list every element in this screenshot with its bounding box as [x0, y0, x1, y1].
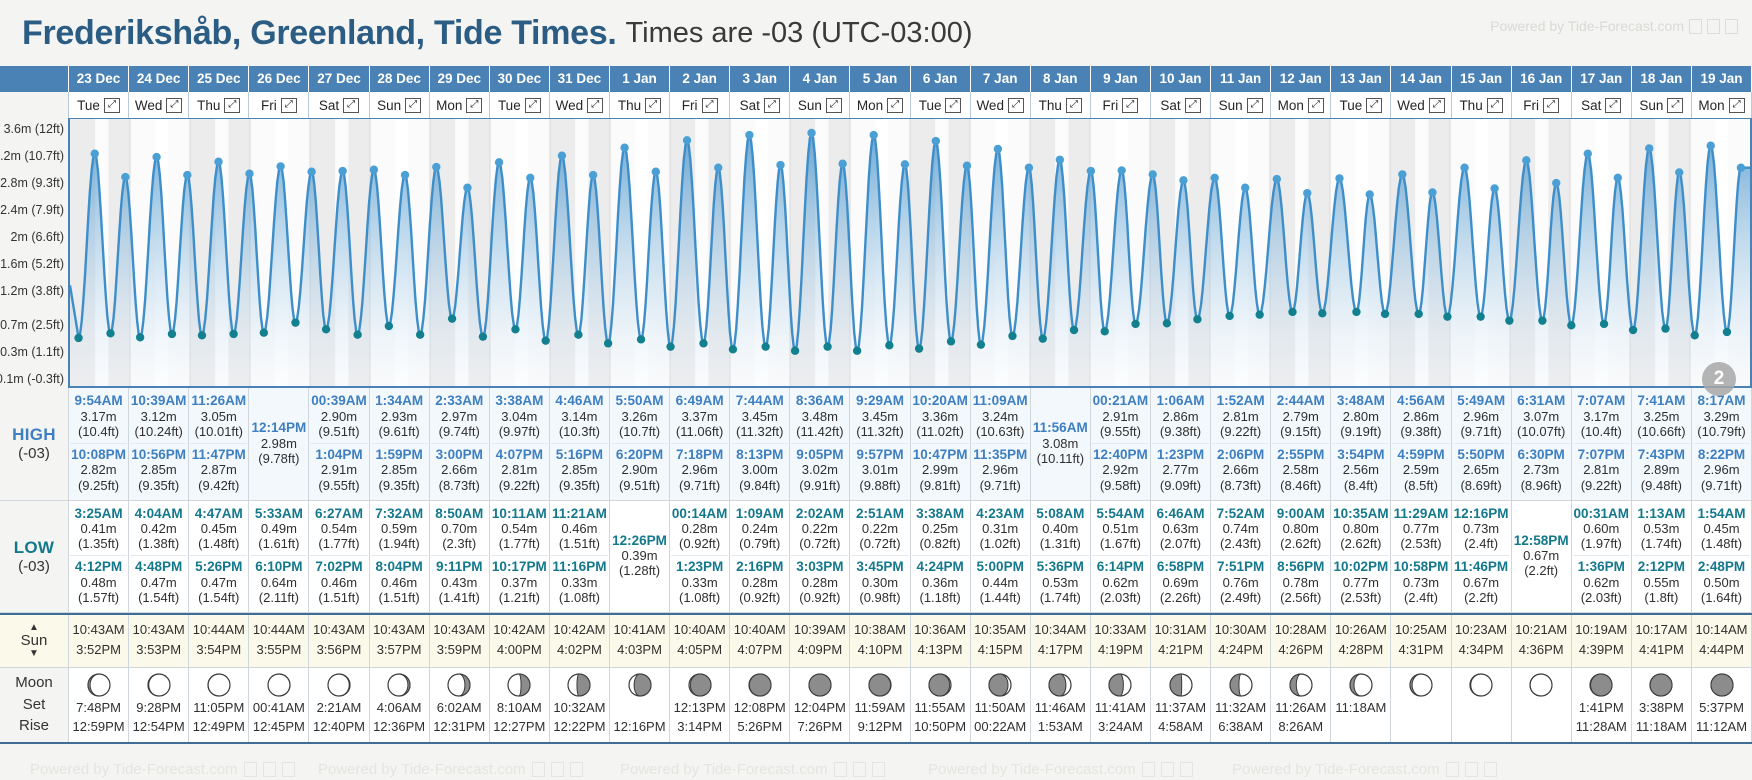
low-tide-time: 5:54AM	[1092, 506, 1149, 522]
expand-day-icon[interactable]: ⤢	[405, 98, 421, 113]
moon-phase-icon	[790, 672, 849, 698]
high-tide-feet: (9.22ft)	[491, 478, 548, 493]
expand-day-icon[interactable]: ⤢	[1729, 98, 1745, 113]
high-tide-feet: (9.48ft)	[1633, 478, 1690, 493]
footer-watermark-icon-1	[1142, 762, 1155, 777]
moonrise-time	[1512, 717, 1571, 737]
low-tide-feet: (1.21ft)	[491, 590, 548, 605]
low-tide-event: 11:29AM0.77m(2.53ft)	[1392, 505, 1449, 554]
high-tide-event: 6:30PM2.73m(8.96ft)	[1513, 443, 1570, 495]
low-tide-time: 6:14PM	[1092, 559, 1149, 575]
expand-day-icon[interactable]: ⤢	[645, 98, 661, 113]
high-tide-event: 9:54AM3.17m(10.4ft)	[70, 392, 127, 441]
high-tide-feet: (9.81ft)	[912, 478, 969, 493]
expand-day-icon[interactable]: ⤢	[1066, 98, 1082, 113]
high-tide-cell: 5:49AM2.96m(9.71ft)5:50PM2.65m(8.69ft)	[1452, 388, 1512, 500]
low-tide-event: 1:23PM0.33m(1.08ft)	[671, 555, 728, 607]
sunset-time: 4:39PM	[1572, 640, 1631, 660]
high-tide-feet: (9.84ft)	[731, 478, 788, 493]
expand-day-icon[interactable]: ⤢	[1185, 98, 1201, 113]
high-tide-metres: 2.93m	[371, 409, 428, 424]
high-tide-metres: 3.37m	[671, 409, 728, 424]
low-tide-cell: 5:08AM0.40m(1.31ft)5:36PM0.53m(1.74ft)	[1031, 501, 1091, 613]
high-tide-metres: 3.01m	[851, 462, 908, 477]
expand-day-icon[interactable]: ⤢	[525, 98, 541, 113]
low-tide-event: 7:32AM0.59m(1.94ft)	[371, 505, 428, 554]
low-tide-cell: 12:58PM0.67m(2.2ft)	[1512, 501, 1572, 613]
high-tide-feet: (8.73ft)	[1212, 478, 1269, 493]
date-header-cell[interactable]: 9 Jan	[1091, 66, 1151, 92]
high-tide-metres: 2.85m	[371, 462, 428, 477]
low-tide-event: 7:51PM0.76m(2.49ft)	[1212, 555, 1269, 607]
low-tide-metres: 0.24m	[731, 521, 788, 536]
date-header-cell[interactable]: 4 Jan	[790, 66, 850, 92]
high-tide-time: 4:59PM	[1392, 447, 1449, 463]
expand-day-icon[interactable]: ⤢	[1308, 98, 1324, 113]
weekday-header-cell: Fri⤢	[249, 92, 309, 118]
high-tide-time: 11:47PM	[190, 447, 247, 463]
high-tide-feet: (9.71ft)	[972, 478, 1029, 493]
moon-phase-icon	[1512, 672, 1571, 698]
high-tide-cell: 8:36AM3.48m(11.42ft)9:05PM3.02m(9.91ft)	[790, 388, 850, 500]
low-tide-event: 12:16PM0.73m(2.4ft)	[1453, 505, 1510, 554]
moon-cell: 12:13PM3:14PM	[670, 668, 730, 742]
low-tide-time: 11:16PM	[551, 559, 608, 575]
expand-day-icon[interactable]: ⤢	[945, 98, 961, 113]
low-tide-time: 6:10PM	[250, 559, 307, 575]
high-tide-metres: 3.24m	[972, 409, 1029, 424]
high-tide-event: 9:57PM3.01m(9.88ft)	[851, 443, 908, 495]
high-tide-time: 10:39AM	[130, 393, 187, 409]
expand-day-icon[interactable]: ⤢	[1605, 98, 1621, 113]
moon-times: 11:18AM	[1331, 698, 1390, 737]
high-tide-metres: 2.81m	[1212, 409, 1269, 424]
low-tide-metres: 0.76m	[1212, 575, 1269, 590]
expand-day-icon[interactable]: ⤢	[587, 98, 603, 113]
low-tide-cell: 10:35AM0.80m(2.62ft)10:02PM0.77m(2.53ft)	[1331, 501, 1391, 613]
moonset-time: 11:41AM	[1091, 698, 1150, 718]
tide-chart[interactable]	[68, 118, 1752, 388]
sunrise-time: 10:19AM	[1572, 620, 1631, 640]
low-tide-metres: 0.47m	[190, 575, 247, 590]
date-header-cell[interactable]: 28 Dec	[370, 66, 430, 92]
date-header-cell[interactable]: 15 Jan	[1452, 66, 1512, 92]
sunset-time: 3:57PM	[370, 640, 429, 660]
weekday-label: Sat	[1581, 98, 1601, 113]
moon-cell: 11:46AM1:53AM	[1031, 668, 1091, 742]
footer-watermark-icon-1	[834, 762, 847, 777]
weekday-header-cell: Tue⤢	[911, 92, 971, 118]
weekday-label: Wed	[976, 98, 1004, 113]
moon-phase-icon	[1391, 672, 1450, 698]
low-tide-feet: (2.49ft)	[1212, 590, 1269, 605]
high-tide-event: 2:55PM2.58m(8.46ft)	[1272, 443, 1329, 495]
moon-times: 11:37AM4:58AM	[1151, 698, 1210, 737]
sunrise-time: 10:42AM	[490, 620, 549, 640]
high-tide-time: 3:48AM	[1332, 393, 1389, 409]
low-tide-metres: 0.43m	[431, 575, 488, 590]
moon-phase-icon	[430, 672, 489, 698]
low-tide-event: 6:27AM0.54m(1.77ft)	[310, 505, 367, 554]
low-tide-event: 3:38AM0.25m(0.82ft)	[912, 505, 969, 554]
low-tide-feet: (1.67ft)	[1092, 536, 1149, 551]
date-header-cell[interactable]: 29 Dec	[430, 66, 490, 92]
low-tide-event: 11:21AM0.46m(1.51ft)	[551, 505, 608, 554]
date-header-cell[interactable]: 16 Jan	[1512, 66, 1572, 92]
high-tide-metres: 3.45m	[731, 409, 788, 424]
high-tide-feet: (11.02ft)	[912, 424, 969, 439]
moon-times: 00:41AM12:45PM	[249, 698, 308, 737]
expand-day-icon[interactable]: ⤢	[466, 98, 482, 113]
sunset-time: 4:44PM	[1692, 640, 1751, 660]
date-header-cell[interactable]: 7 Jan	[971, 66, 1031, 92]
high-tide-cell: 6:49AM3.37m(11.06ft)7:18PM2.96m(9.71ft)	[670, 388, 730, 500]
high-tide-label: HIGH (-03)	[0, 388, 68, 500]
high-tide-cell: 12:14PM2.98m(9.78ft)	[249, 388, 309, 500]
sunrise-time: 10:43AM	[129, 620, 188, 640]
high-tide-metres: 2.85m	[130, 462, 187, 477]
weekday-header-cell: Thu⤢	[189, 92, 249, 118]
date-header-cell[interactable]: 12 Jan	[1271, 66, 1331, 92]
high-tide-metres: 3.14m	[551, 409, 608, 424]
date-header-cell[interactable]: 14 Jan	[1391, 66, 1451, 92]
high-tide-metres: 2.90m	[611, 462, 668, 477]
date-header-cell[interactable]: 31 Dec	[550, 66, 610, 92]
low-tide-metres: 0.41m	[70, 521, 127, 536]
footer-watermark-text: Powered by Tide-Forecast.com	[1232, 761, 1440, 778]
low-tide-metres: 0.78m	[1272, 575, 1329, 590]
moonrise-time: 10:50PM	[911, 717, 970, 737]
sun-cell: 10:21AM4:36PM	[1512, 615, 1572, 666]
sunrise-time: 10:26AM	[1331, 620, 1390, 640]
sun-row: ▲ Sun ▼ 10:43AM3:52PM10:43AM3:53PM10:44A…	[0, 613, 1752, 666]
weekday-label: Sat	[319, 98, 339, 113]
date-header-cell[interactable]: 2 Jan	[670, 66, 730, 92]
high-tide-metres: 2.86m	[1152, 409, 1209, 424]
moon-times: 11:50AM00:22AM	[971, 698, 1030, 737]
low-tide-event: 5:00PM0.44m(1.44ft)	[972, 555, 1029, 607]
high-tide-feet: (10.4ft)	[1573, 424, 1630, 439]
low-tide-event: 3:03PM0.28m(0.92ft)	[791, 555, 848, 607]
high-tide-time: 10:47PM	[912, 447, 969, 463]
high-tide-time: 12:14PM	[250, 420, 307, 436]
low-tide-event: 2:51AM0.22m(0.72ft)	[851, 505, 908, 554]
high-tide-time: 10:20AM	[912, 393, 969, 409]
moon-phase-icon	[730, 672, 789, 698]
low-tide-event: 10:02PM0.77m(2.53ft)	[1332, 555, 1389, 607]
high-tide-feet: (8.5ft)	[1392, 478, 1449, 493]
date-header-cell[interactable]: 23 Dec	[68, 66, 129, 92]
moon-times: 11:26AM8:26AM	[1271, 698, 1330, 737]
moonrise-time	[1452, 717, 1511, 737]
high-tide-metres: 2.85m	[551, 462, 608, 477]
weekday-header-cell: Mon⤢	[1271, 92, 1331, 118]
expand-day-icon[interactable]: ⤢	[166, 98, 182, 113]
date-header-cell[interactable]: 19 Jan	[1692, 66, 1752, 92]
low-tide-time: 4:04AM	[130, 506, 187, 522]
low-tide-feet: (1.61ft)	[250, 536, 307, 551]
low-tide-event: 1:54AM0.45m(1.48ft)	[1693, 505, 1750, 554]
moon-phase-icon	[69, 672, 128, 698]
sunrise-time: 10:17AM	[1632, 620, 1691, 640]
weekday-header-cell: Tue⤢	[68, 92, 129, 118]
low-tide-feet: (0.92ft)	[731, 590, 788, 605]
moonset-time	[1512, 698, 1571, 718]
high-tide-feet: (9.09ft)	[1152, 478, 1209, 493]
high-tide-time: 3:54PM	[1332, 447, 1389, 463]
low-tide-event: 5:33AM0.49m(1.61ft)	[250, 505, 307, 554]
low-tide-time: 1:54AM	[1693, 506, 1750, 522]
low-tide-feet: (1.38ft)	[130, 536, 187, 551]
high-tide-event: 3:54PM2.56m(8.4ft)	[1332, 443, 1389, 495]
sun-cell: 10:31AM4:21PM	[1151, 615, 1211, 666]
low-tide-metres: 0.28m	[671, 521, 728, 536]
high-tide-cell: 11:26AM3.05m(10.01ft)11:47PM2.87m(9.42ft…	[189, 388, 249, 500]
high-tide-feet: (9.74ft)	[431, 424, 488, 439]
date-header-cell[interactable]: 26 Dec	[249, 66, 309, 92]
low-tide-metres: 0.77m	[1392, 521, 1449, 536]
weekday-header-cell: Thu⤢	[1031, 92, 1091, 118]
sunrise-time: 10:38AM	[850, 620, 909, 640]
high-tide-time: 6:31AM	[1513, 393, 1570, 409]
date-header-cell[interactable]: 1 Jan	[610, 66, 670, 92]
expand-day-icon[interactable]: ⤢	[1366, 98, 1382, 113]
high-tide-event: 10:20AM3.36m(11.02ft)	[912, 392, 969, 441]
expand-day-icon[interactable]: ⤢	[1429, 98, 1445, 113]
footer-watermark-icon-2	[1161, 762, 1174, 777]
moonset-time: 11:05PM	[189, 698, 248, 718]
moon-phase-icon	[550, 672, 609, 698]
high-tide-event: 12:40PM2.92m(9.58ft)	[1092, 443, 1149, 495]
expand-day-icon[interactable]: ⤢	[1247, 98, 1263, 113]
footer-watermark: Powered by Tide-Forecast.com	[1232, 761, 1497, 778]
moon-times: 4:06AM12:36PM	[370, 698, 429, 737]
low-tide-time: 4:47AM	[190, 506, 247, 522]
weekday-label: Wed	[556, 98, 584, 113]
footer-watermark-icon-1	[244, 762, 257, 777]
low-tide-feet: (0.98ft)	[851, 590, 908, 605]
low-tide-feet: (1.35ft)	[70, 536, 127, 551]
high-tide-time: 5:50AM	[611, 393, 668, 409]
low-tide-event: 4:47AM0.45m(1.48ft)	[190, 505, 247, 554]
moonrise-time: 3:14PM	[670, 717, 729, 737]
high-tide-feet: (10.01ft)	[190, 424, 247, 439]
moon-phase-icon	[670, 672, 729, 698]
low-tide-feet: (2.2ft)	[1513, 563, 1570, 578]
low-tide-time: 5:00PM	[972, 559, 1029, 575]
weekday-header-corner	[0, 92, 68, 118]
weekday-label: Sun	[798, 98, 822, 113]
moonset-time: 11:50AM	[971, 698, 1030, 718]
high-tide-time: 9:54AM	[70, 393, 127, 409]
sun-cell: 10:42AM4:02PM	[550, 615, 610, 666]
expand-day-icon[interactable]: ⤢	[1667, 98, 1683, 113]
moon-cell: 00:41AM12:45PM	[249, 668, 309, 742]
high-tide-event: 1:34AM2.93m(9.61ft)	[371, 392, 428, 441]
low-tide-metres: 0.50m	[1693, 575, 1750, 590]
date-header-cell[interactable]: 6 Jan	[911, 66, 971, 92]
expand-day-icon[interactable]: ⤢	[281, 98, 297, 113]
high-tide-cell: 5:50AM3.26m(10.7ft)6:20PM2.90m(9.51ft)	[610, 388, 670, 500]
weekday-label: Sat	[1160, 98, 1180, 113]
high-tide-feet: (10.3ft)	[551, 424, 608, 439]
low-tide-time: 11:21AM	[551, 506, 608, 522]
sun-cell: 10:14AM4:44PM	[1692, 615, 1752, 666]
date-header-cell[interactable]: 17 Jan	[1572, 66, 1632, 92]
sun-cell: 10:38AM4:10PM	[850, 615, 910, 666]
low-tide-cell: 2:02AM0.22m(0.72ft)3:03PM0.28m(0.92ft)	[790, 501, 850, 613]
weekday-label: Wed	[1397, 98, 1425, 113]
timezone-subtitle: Times are -03 (UTC-03:00)	[626, 17, 973, 50]
high-tide-event: 11:26AM3.05m(10.01ft)	[190, 392, 247, 441]
high-tide-time: 9:57PM	[851, 447, 908, 463]
high-tide-cell: 8:17AM3.29m(10.79ft)8:22PM2.96m(9.71ft)	[1692, 388, 1752, 500]
date-header-cell[interactable]: 30 Dec	[490, 66, 550, 92]
watermark-icon-1	[1689, 19, 1702, 34]
high-tide-event: 11:47PM2.87m(9.42ft)	[190, 443, 247, 495]
moon-cell: 2:21AM12:40PM	[309, 668, 369, 742]
expand-day-icon[interactable]: ⤢	[224, 98, 240, 113]
low-tide-metres: 0.62m	[1573, 575, 1630, 590]
low-tide-metres: 0.40m	[1032, 521, 1089, 536]
expand-day-icon[interactable]: ⤢	[764, 98, 780, 113]
footer-watermark-text: Powered by Tide-Forecast.com	[928, 761, 1136, 778]
low-tide-time: 5:26PM	[190, 559, 247, 575]
high-tide-time: 5:16PM	[551, 447, 608, 463]
high-tide-metres: 3.05m	[190, 409, 247, 424]
date-header-cell[interactable]: 18 Jan	[1632, 66, 1692, 92]
moonrise-time: 6:38AM	[1211, 717, 1270, 737]
expand-day-icon[interactable]: ⤢	[1543, 98, 1559, 113]
expand-day-icon[interactable]: ⤢	[1008, 98, 1024, 113]
low-tide-time: 2:16PM	[731, 559, 788, 575]
chart-y-tick-label: 0.7m (2.5ft)	[0, 318, 64, 332]
low-tide-time: 3:38AM	[912, 506, 969, 522]
moon-times: 10:32AM12:22PM	[550, 698, 609, 737]
high-tide-feet: (11.32ft)	[731, 424, 788, 439]
expand-day-icon[interactable]: ⤢	[1122, 98, 1138, 113]
weekday-label: Thu	[1039, 98, 1062, 113]
high-tide-metres: 2.66m	[1212, 462, 1269, 477]
sun-cell: 10:41AM4:03PM	[610, 615, 670, 666]
high-tide-event: 7:07PM2.81m(9.22ft)	[1573, 443, 1630, 495]
moonrise-time: 11:28AM	[1572, 717, 1631, 737]
low-tide-feet: (2.56ft)	[1272, 590, 1329, 605]
high-tide-event: 5:16PM2.85m(9.35ft)	[551, 443, 608, 495]
moonset-time: 00:41AM	[249, 698, 308, 718]
expand-day-icon[interactable]: ⤢	[104, 98, 120, 113]
date-header-cell[interactable]: 25 Dec	[189, 66, 249, 92]
date-header-cell[interactable]: 11 Jan	[1211, 66, 1271, 92]
weekday-header-row: Tue⤢Wed⤢Thu⤢Fri⤢Sat⤢Sun⤢Mon⤢Tue⤢Wed⤢Thu⤢…	[0, 92, 1752, 118]
low-tide-feet: (1.18ft)	[912, 590, 969, 605]
date-header-cell[interactable]: 3 Jan	[730, 66, 790, 92]
high-tide-event: 8:36AM3.48m(11.42ft)	[791, 392, 848, 441]
low-tide-cell: 4:23AM0.31m(1.02ft)5:00PM0.44m(1.44ft)	[971, 501, 1031, 613]
high-tide-feet: (9.25ft)	[70, 478, 127, 493]
high-tide-feet: (9.55ft)	[1092, 424, 1149, 439]
date-header-cell[interactable]: 5 Jan	[850, 66, 910, 92]
low-tide-cells: 3:25AM0.41m(1.35ft)4:12PM0.48m(1.57ft)4:…	[68, 501, 1752, 613]
expand-day-icon[interactable]: ⤢	[826, 98, 842, 113]
expand-day-icon[interactable]: ⤢	[343, 98, 359, 113]
date-header-cell[interactable]: 10 Jan	[1151, 66, 1211, 92]
low-tide-event: 4:23AM0.31m(1.02ft)	[972, 505, 1029, 554]
low-tide-metres: 0.22m	[851, 521, 908, 536]
sun-cell: 10:39AM4:09PM	[790, 615, 850, 666]
sunset-time: 3:59PM	[430, 640, 489, 660]
moon-cell: 8:10AM12:27PM	[490, 668, 550, 742]
low-tide-event: 4:24PM0.36m(1.18ft)	[912, 555, 969, 607]
low-tide-cell: 6:46AM0.63m(2.07ft)6:58PM0.69m(2.26ft)	[1151, 501, 1211, 613]
low-tide-feet: (0.92ft)	[791, 590, 848, 605]
moon-times: 3:38PM11:18AM	[1632, 698, 1691, 737]
low-tide-cell: 11:29AM0.77m(2.53ft)10:58PM0.73m(2.4ft)	[1391, 501, 1451, 613]
moonrise-time: 12:45PM	[249, 717, 308, 737]
moon-times: 2:21AM12:40PM	[309, 698, 368, 737]
sunrise-time: 10:21AM	[1512, 620, 1571, 640]
weekday-header-cell: Wed⤢	[1391, 92, 1451, 118]
weekday-header-cell: Sun⤢	[1632, 92, 1692, 118]
low-tide-feet: (1.51ft)	[310, 590, 367, 605]
low-tide-event: 1:13AM0.53m(1.74ft)	[1633, 505, 1690, 554]
high-tide-event: 8:17AM3.29m(10.79ft)	[1693, 392, 1750, 441]
sunrise-time: 10:34AM	[1031, 620, 1090, 640]
sunset-time: 4:15PM	[971, 640, 1030, 660]
moonrise-time: 7:26PM	[790, 717, 849, 737]
high-tide-metres: 2.87m	[190, 462, 247, 477]
low-tide-cell: 7:32AM0.59m(1.94ft)8:04PM0.46m(1.51ft)	[370, 501, 430, 613]
high-tide-time: 4:07PM	[491, 447, 548, 463]
date-header-cell[interactable]: 8 Jan	[1031, 66, 1091, 92]
low-tide-cell: 5:54AM0.51m(1.67ft)6:14PM0.62m(2.03ft)	[1091, 501, 1151, 613]
low-tide-metres: 0.28m	[791, 575, 848, 590]
high-tide-event: 5:49AM2.96m(9.71ft)	[1453, 392, 1510, 441]
date-header-cell[interactable]: 27 Dec	[309, 66, 369, 92]
sun-cell: 10:40AM4:05PM	[670, 615, 730, 666]
low-tide-event: 5:26PM0.47m(1.54ft)	[190, 555, 247, 607]
footer-watermark-icon-3	[1180, 762, 1193, 777]
moon-phase-icon	[129, 672, 188, 698]
high-tide-event: 7:43PM2.89m(9.48ft)	[1633, 443, 1690, 495]
moon-cell: 5:37PM11:12AM	[1692, 668, 1752, 742]
moon-cell: 12:08PM5:26PM	[730, 668, 790, 742]
low-tide-feet: (0.72ft)	[851, 536, 908, 551]
date-header-cell[interactable]: 13 Jan	[1331, 66, 1391, 92]
expand-day-icon[interactable]: ⤢	[887, 98, 903, 113]
overlay-count-badge[interactable]: 2	[1702, 362, 1736, 396]
footer-watermark-icon-3	[570, 762, 583, 777]
low-tide-time: 6:27AM	[310, 506, 367, 522]
expand-day-icon[interactable]: ⤢	[1487, 98, 1503, 113]
high-tide-metres: 3.36m	[912, 409, 969, 424]
high-tide-feet: (11.32ft)	[851, 424, 908, 439]
date-header-cell[interactable]: 24 Dec	[129, 66, 189, 92]
low-tide-event: 7:02PM0.46m(1.51ft)	[310, 555, 367, 607]
low-tide-metres: 0.62m	[1092, 575, 1149, 590]
high-tide-feet: (9.51ft)	[611, 478, 668, 493]
high-tide-event: 8:22PM2.96m(9.71ft)	[1693, 443, 1750, 495]
high-tide-time: 1:23PM	[1152, 447, 1209, 463]
sun-cell: 10:34AM4:17PM	[1031, 615, 1091, 666]
tide-chart-row: 3.6m (12ft)3.2m (10.7ft)2.8m (9.3ft)2.4m…	[0, 118, 1752, 388]
moon-cell: 3:38PM11:18AM	[1632, 668, 1692, 742]
low-tide-metres: 0.44m	[972, 575, 1029, 590]
high-tide-feet: (8.73ft)	[431, 478, 488, 493]
footer-watermark: Powered by Tide-Forecast.com	[928, 761, 1193, 778]
expand-day-icon[interactable]: ⤢	[702, 98, 718, 113]
weekday-label: Thu	[618, 98, 641, 113]
